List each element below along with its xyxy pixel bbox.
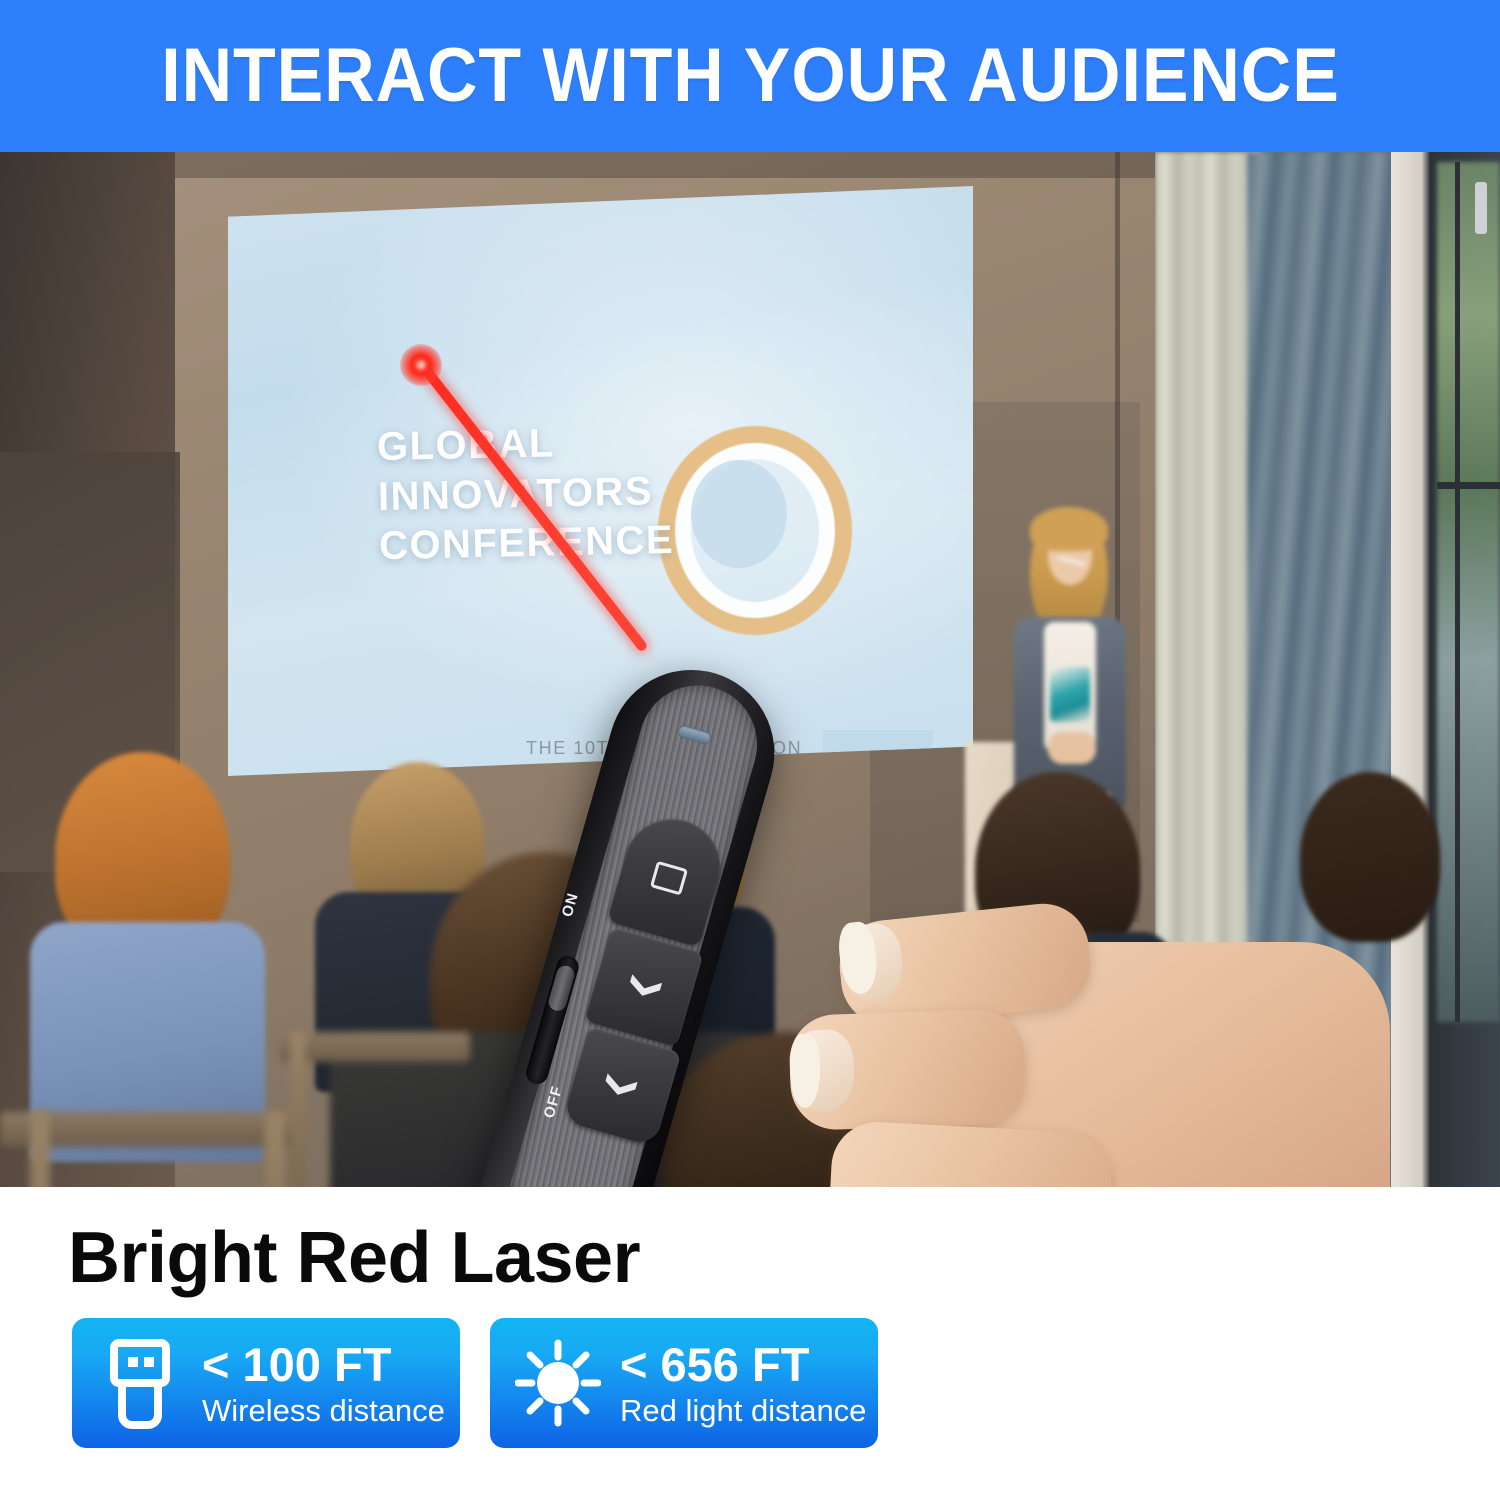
usb-icon [94,1335,186,1431]
sun-icon [512,1335,604,1431]
window-handle [1475,182,1487,234]
window-glass [1437,162,1500,1022]
wall-top-strip [150,152,1160,178]
slide-title-line-1: GLOBAL [376,417,672,473]
slide-ring-logo-center [691,460,787,568]
badge-label: Red light distance [620,1395,866,1426]
badge-text-red-light: < 656 FT Red light distance [620,1341,866,1426]
presenter-badge [1050,667,1090,722]
rectangle-icon [650,860,688,895]
badge-value: < 100 FT [202,1341,445,1388]
feature-badge-wireless-distance: < 100 FT Wireless distance [72,1318,460,1448]
badge-label: Wireless distance [202,1395,445,1426]
badge-value: < 656 FT [620,1341,866,1388]
presenter-hair-front [1030,507,1108,551]
middle-fingernail-tip [790,1034,820,1108]
presenter-hands [1048,732,1096,764]
laser-dot [411,355,431,375]
chair-leg [265,1112,285,1187]
arrow-right-icon: ❯ [604,1070,640,1102]
window-mullion-vertical [1455,162,1460,1022]
chair [280,1032,470,1062]
banner-title: INTERACT WITH YOUR AUDIENCE [161,38,1340,114]
chair-leg [30,1112,50,1187]
hand-holding-remote [770,912,1410,1187]
slide-title-line-3: CONFERENCE [379,516,675,572]
projection-screen: GLOBAL INNOVATORS CONFERENCE THE 10TH AN… [228,186,973,776]
chair-leg [290,1032,306,1187]
conference-room-photo: GLOBAL INNOVATORS CONFERENCE THE 10TH AN… [0,152,1500,1187]
feature-badge-list: < 100 FT Wireless distance [72,1318,878,1448]
feature-badge-red-light-distance: < 656 FT Red light distance [490,1318,878,1448]
window-mullion-horizontal [1437,482,1500,489]
arrow-left-icon: ❮ [626,971,662,1003]
header-banner: INTERACT WITH YOUR AUDIENCE [0,0,1500,152]
product-marketing-image: INTERACT WITH YOUR AUDIENCE GLOBAL INNO [0,0,1500,1500]
badge-text-wireless: < 100 FT Wireless distance [202,1341,445,1426]
feature-title: Bright Red Laser [68,1222,640,1294]
